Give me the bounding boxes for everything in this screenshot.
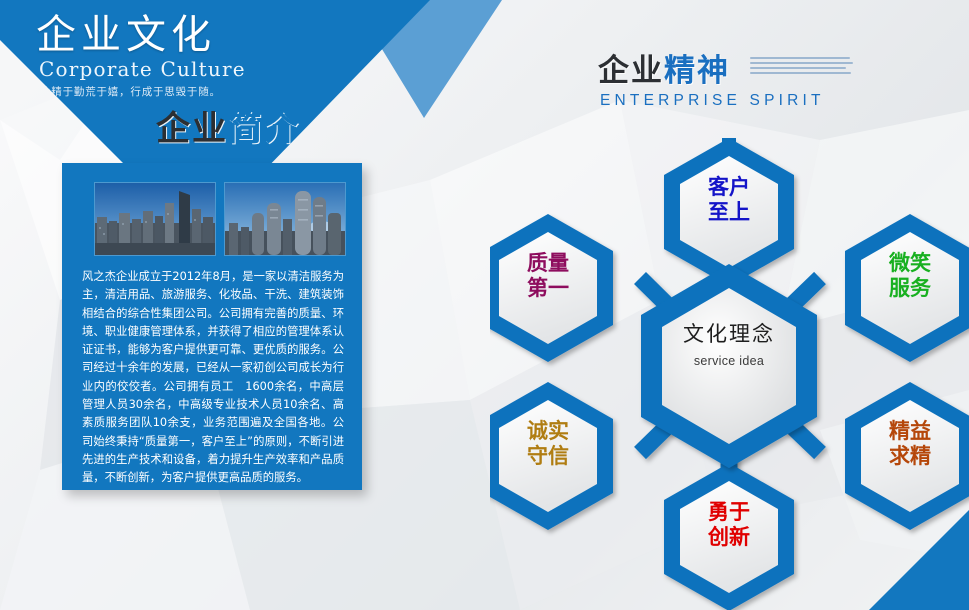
company-profile-text: 风之杰企业成立于2012年8月，是一家以清洁服务为主，清洁用品、旅游服务、化妆品… — [82, 268, 344, 488]
poster-canvas: 企业文化 Corporate Culture 业精于勤荒于嬉，行成于思毁于随。 … — [0, 0, 969, 610]
hex-node-top — [664, 138, 794, 286]
hex-node-upper-right — [845, 214, 969, 362]
decor-placeholder-lines — [750, 57, 854, 77]
profile-photo-row — [94, 182, 346, 256]
culture-hexagon-diagram: 客户 至上 质量 第一 微笑 服务 诚实 守信 精益 求精 勇于 创新 文化理念… — [490, 118, 969, 610]
spirit-title-dark: 企业 — [598, 53, 664, 88]
intro-title-blue: 简介 — [228, 110, 300, 148]
city-skyline-photo — [94, 182, 216, 256]
hex-node-bottom — [664, 463, 794, 610]
hex-node-upper-left — [490, 214, 613, 362]
spirit-section-header: 企业精神 ENTERPRISE SPIRIT — [598, 55, 858, 110]
banner-title-en: Corporate Culture — [39, 57, 396, 81]
spirit-title-blue: 精神 — [664, 53, 730, 88]
intro-section-title: 企业简介 — [156, 112, 300, 146]
hex-node-lower-left — [490, 382, 613, 530]
skyscraper-towers-photo — [224, 182, 346, 256]
company-profile-card: 风之杰企业成立于2012年8月，是一家以清洁服务为主，清洁用品、旅游服务、化妆品… — [62, 163, 362, 490]
hex-node-lower-right — [845, 382, 969, 530]
spirit-title-en: ENTERPRISE SPIRIT — [600, 92, 858, 110]
intro-title-dark: 企业 — [156, 110, 228, 148]
banner-title-cn: 企业文化 — [36, 12, 396, 59]
